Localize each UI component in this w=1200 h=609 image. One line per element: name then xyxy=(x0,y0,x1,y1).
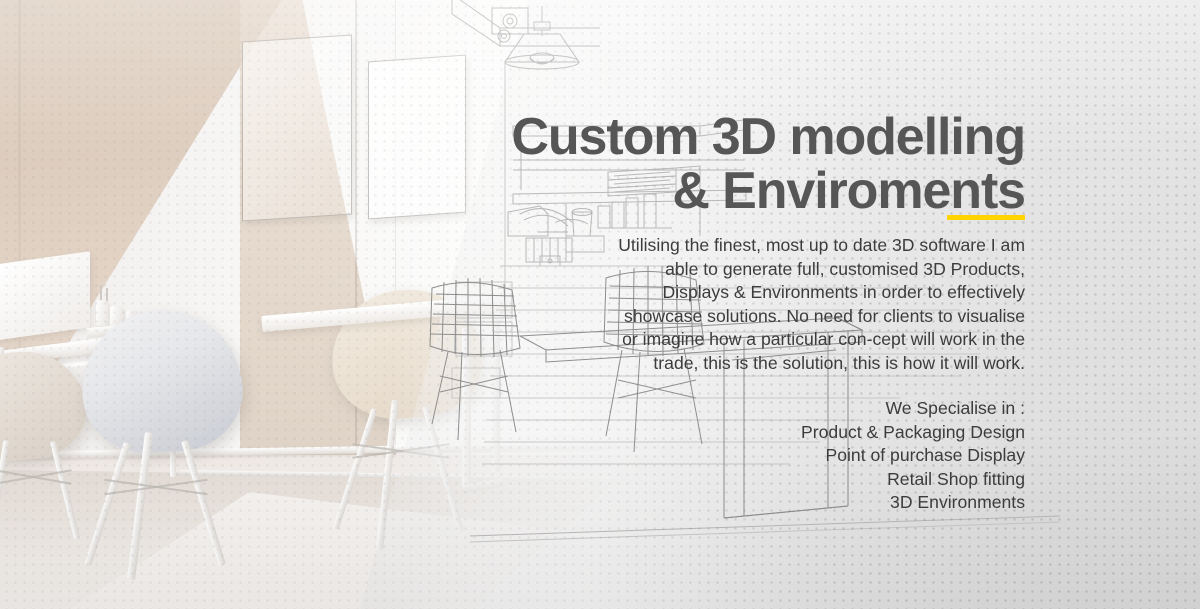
headline-line-1: Custom 3D modelling xyxy=(511,108,1025,166)
list-item: Retail Shop fitting xyxy=(605,468,1025,492)
specialisation-heading: We Specialise in : xyxy=(605,397,1025,421)
specialisation-list: We Specialise in : Product & Packaging D… xyxy=(605,397,1025,515)
list-item: Point of purchase Display xyxy=(605,444,1025,468)
description-paragraph: Utilising the finest, most up to date 3D… xyxy=(605,234,1025,376)
list-item: 3D Environments xyxy=(605,491,1025,515)
banner-content: Custom 3D modelling & Enviroments Utilis… xyxy=(0,0,1200,609)
promo-banner: Custom 3D modelling & Enviroments Utilis… xyxy=(0,0,1200,609)
headline-line-2: & Enviroments xyxy=(325,164,1025,218)
page-title: Custom 3D modelling & Enviroments xyxy=(325,110,1025,218)
accent-divider-bar xyxy=(947,215,1025,220)
list-item: Product & Packaging Design xyxy=(605,421,1025,445)
